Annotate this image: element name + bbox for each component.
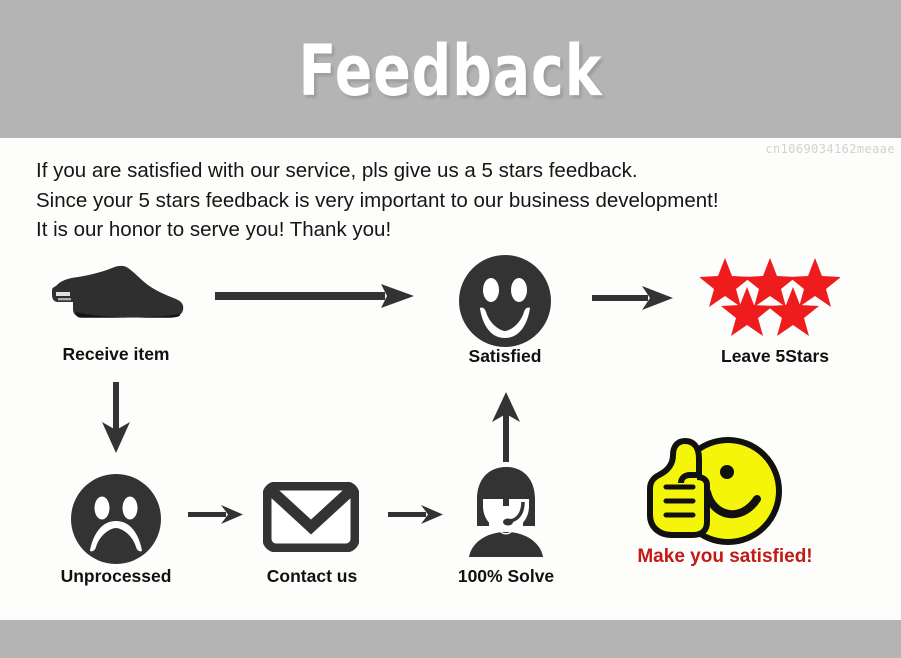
header-band: Feedback: [0, 0, 901, 138]
footer-band: [0, 620, 901, 658]
envelope-icon: [263, 482, 359, 552]
caption-leave-5stars: Leave 5Stars: [690, 346, 860, 367]
caption-satisfied: Satisfied: [405, 346, 605, 367]
caption-unprocessed: Unprocessed: [26, 566, 206, 587]
arrow-up-icon: [490, 392, 522, 462]
five-stars-icon: [700, 256, 840, 336]
smiley-happy-icon: [458, 254, 552, 348]
arrow-right-long-icon: [215, 283, 415, 309]
intro-paragraph: If you are satisfied with our service, p…: [36, 156, 856, 245]
arrow-right-short-icon: [592, 284, 674, 312]
arrow-right-small-icon: [188, 503, 244, 527]
page-title: Feedback: [54, 32, 847, 110]
caption-receive-item: Receive item: [16, 344, 216, 365]
arrow-down-icon: [100, 382, 132, 454]
feedback-banner: Feedback cn1069034162meaae If you are sa…: [0, 0, 901, 658]
dress-shoe-icon: [46, 262, 186, 328]
caption-contact-us: Contact us: [232, 566, 392, 587]
intro-line-1: If you are satisfied with our service, p…: [36, 156, 856, 186]
caption-100-solve: 100% Solve: [436, 566, 576, 587]
support-agent-icon: [463, 466, 549, 558]
intro-line-3: It is our honor to serve you! Thank you!: [36, 215, 856, 245]
arrow-right-small-icon-2: [388, 503, 444, 527]
watermark-text: cn1069034162meaae: [765, 142, 895, 156]
smiley-sad-icon: [70, 473, 162, 565]
intro-line-2: Since your 5 stars feedback is very impo…: [36, 186, 856, 216]
caption-make-you-satisfied: Make you satisfied!: [620, 546, 830, 568]
thumbs-up-smiley-icon: [645, 437, 785, 545]
